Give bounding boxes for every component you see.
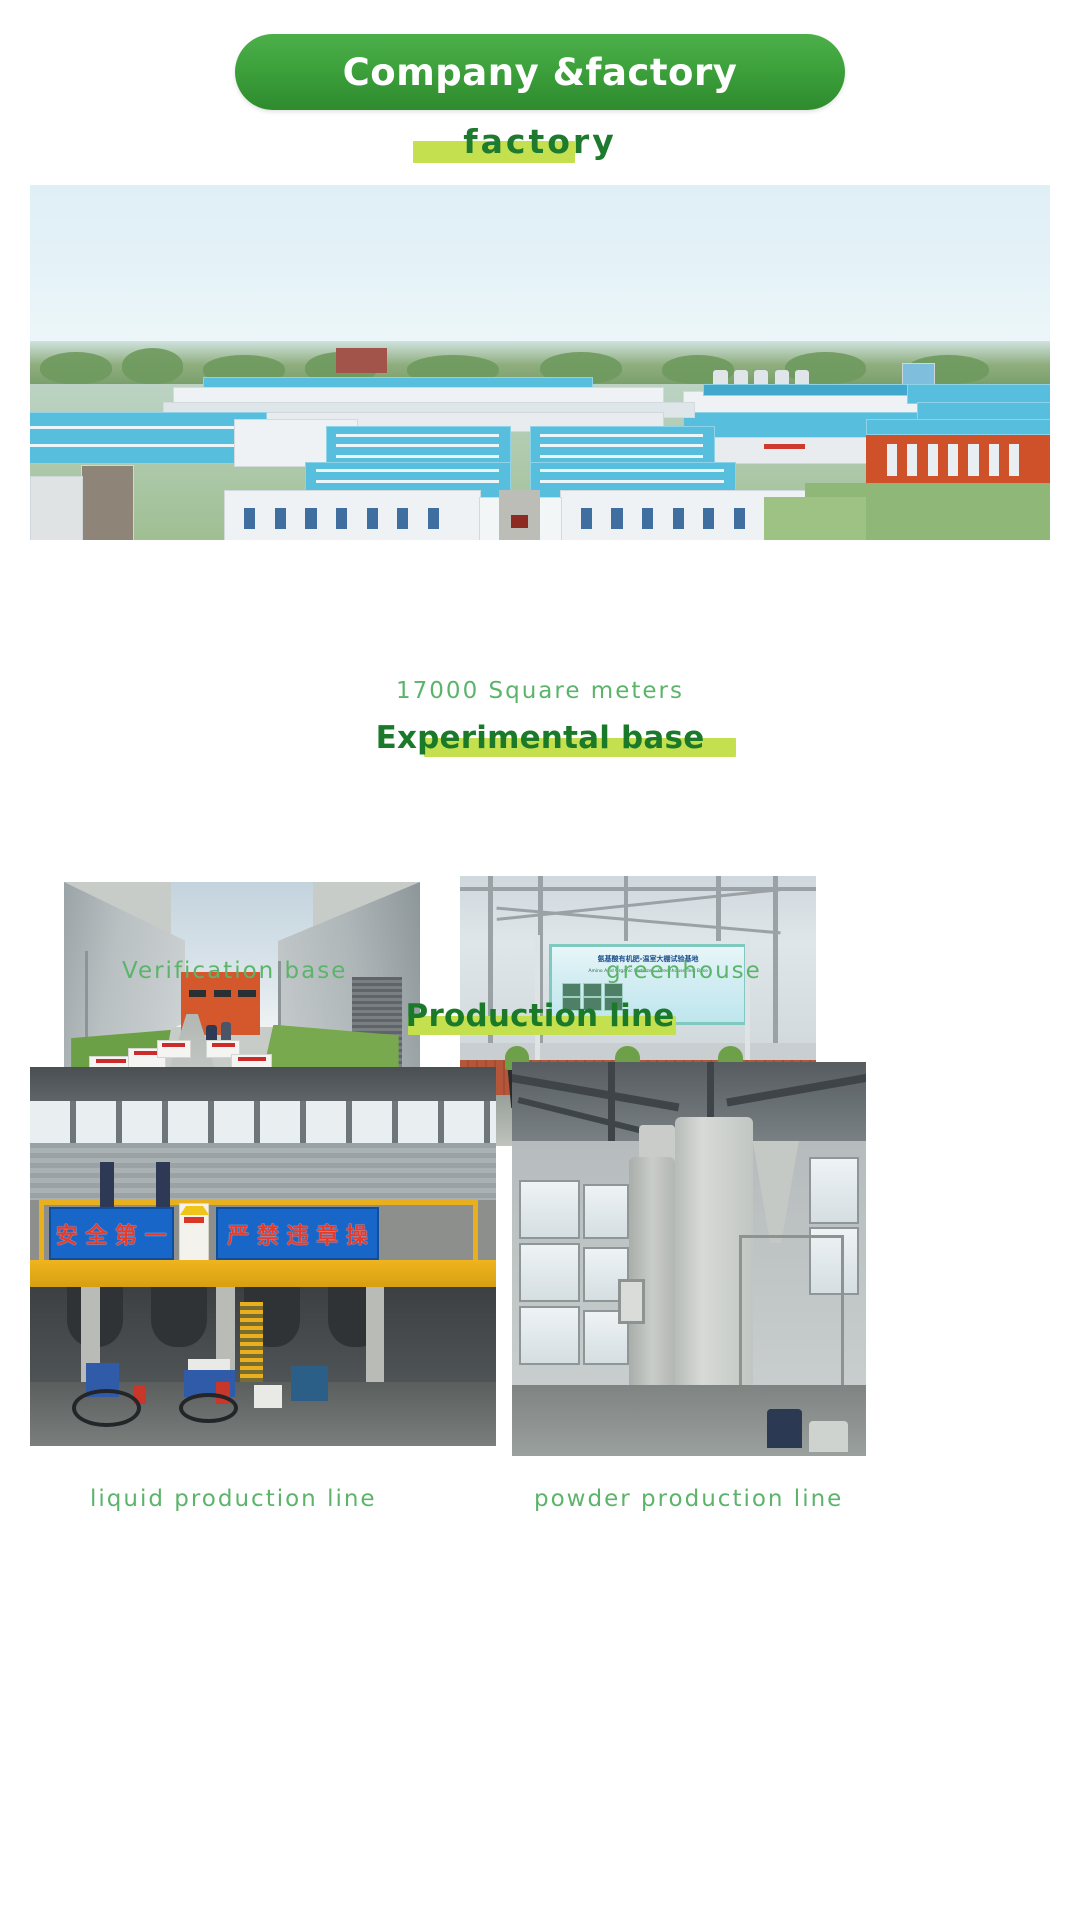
caption-verification-base: Verification base [122, 958, 347, 984]
caption-liquid-production-line: liquid production line [90, 1486, 377, 1512]
liquid-production-line-photo: 安 全 第 一 严 禁 违 章 操 [30, 1067, 496, 1446]
section-title-experimental-base: Experimental base [376, 720, 705, 756]
section-heading-production-line: Production line [0, 998, 1080, 1034]
banner-title: Company &factory [343, 54, 738, 91]
section-heading-factory: factory [0, 122, 1080, 161]
powder-production-line-photo [512, 1062, 866, 1456]
section-heading-experimental-base: Experimental base [0, 720, 1080, 756]
safety-sign-right: 严 禁 违 章 操 [216, 1207, 378, 1260]
section-title-production-line: Production line [406, 998, 675, 1034]
caption-greenhouse: greenhouse [606, 958, 762, 984]
caption-factory-area: 17000 Square meters [0, 678, 1080, 704]
section-title-factory: factory [463, 122, 616, 161]
factory-aerial-photo [30, 185, 1050, 540]
banner-pill: Company &factory [235, 34, 845, 110]
page-banner: Company &factory [0, 34, 1080, 110]
caption-powder-production-line: powder production line [534, 1486, 843, 1512]
safety-sign-left: 安 全 第 一 [49, 1207, 174, 1260]
